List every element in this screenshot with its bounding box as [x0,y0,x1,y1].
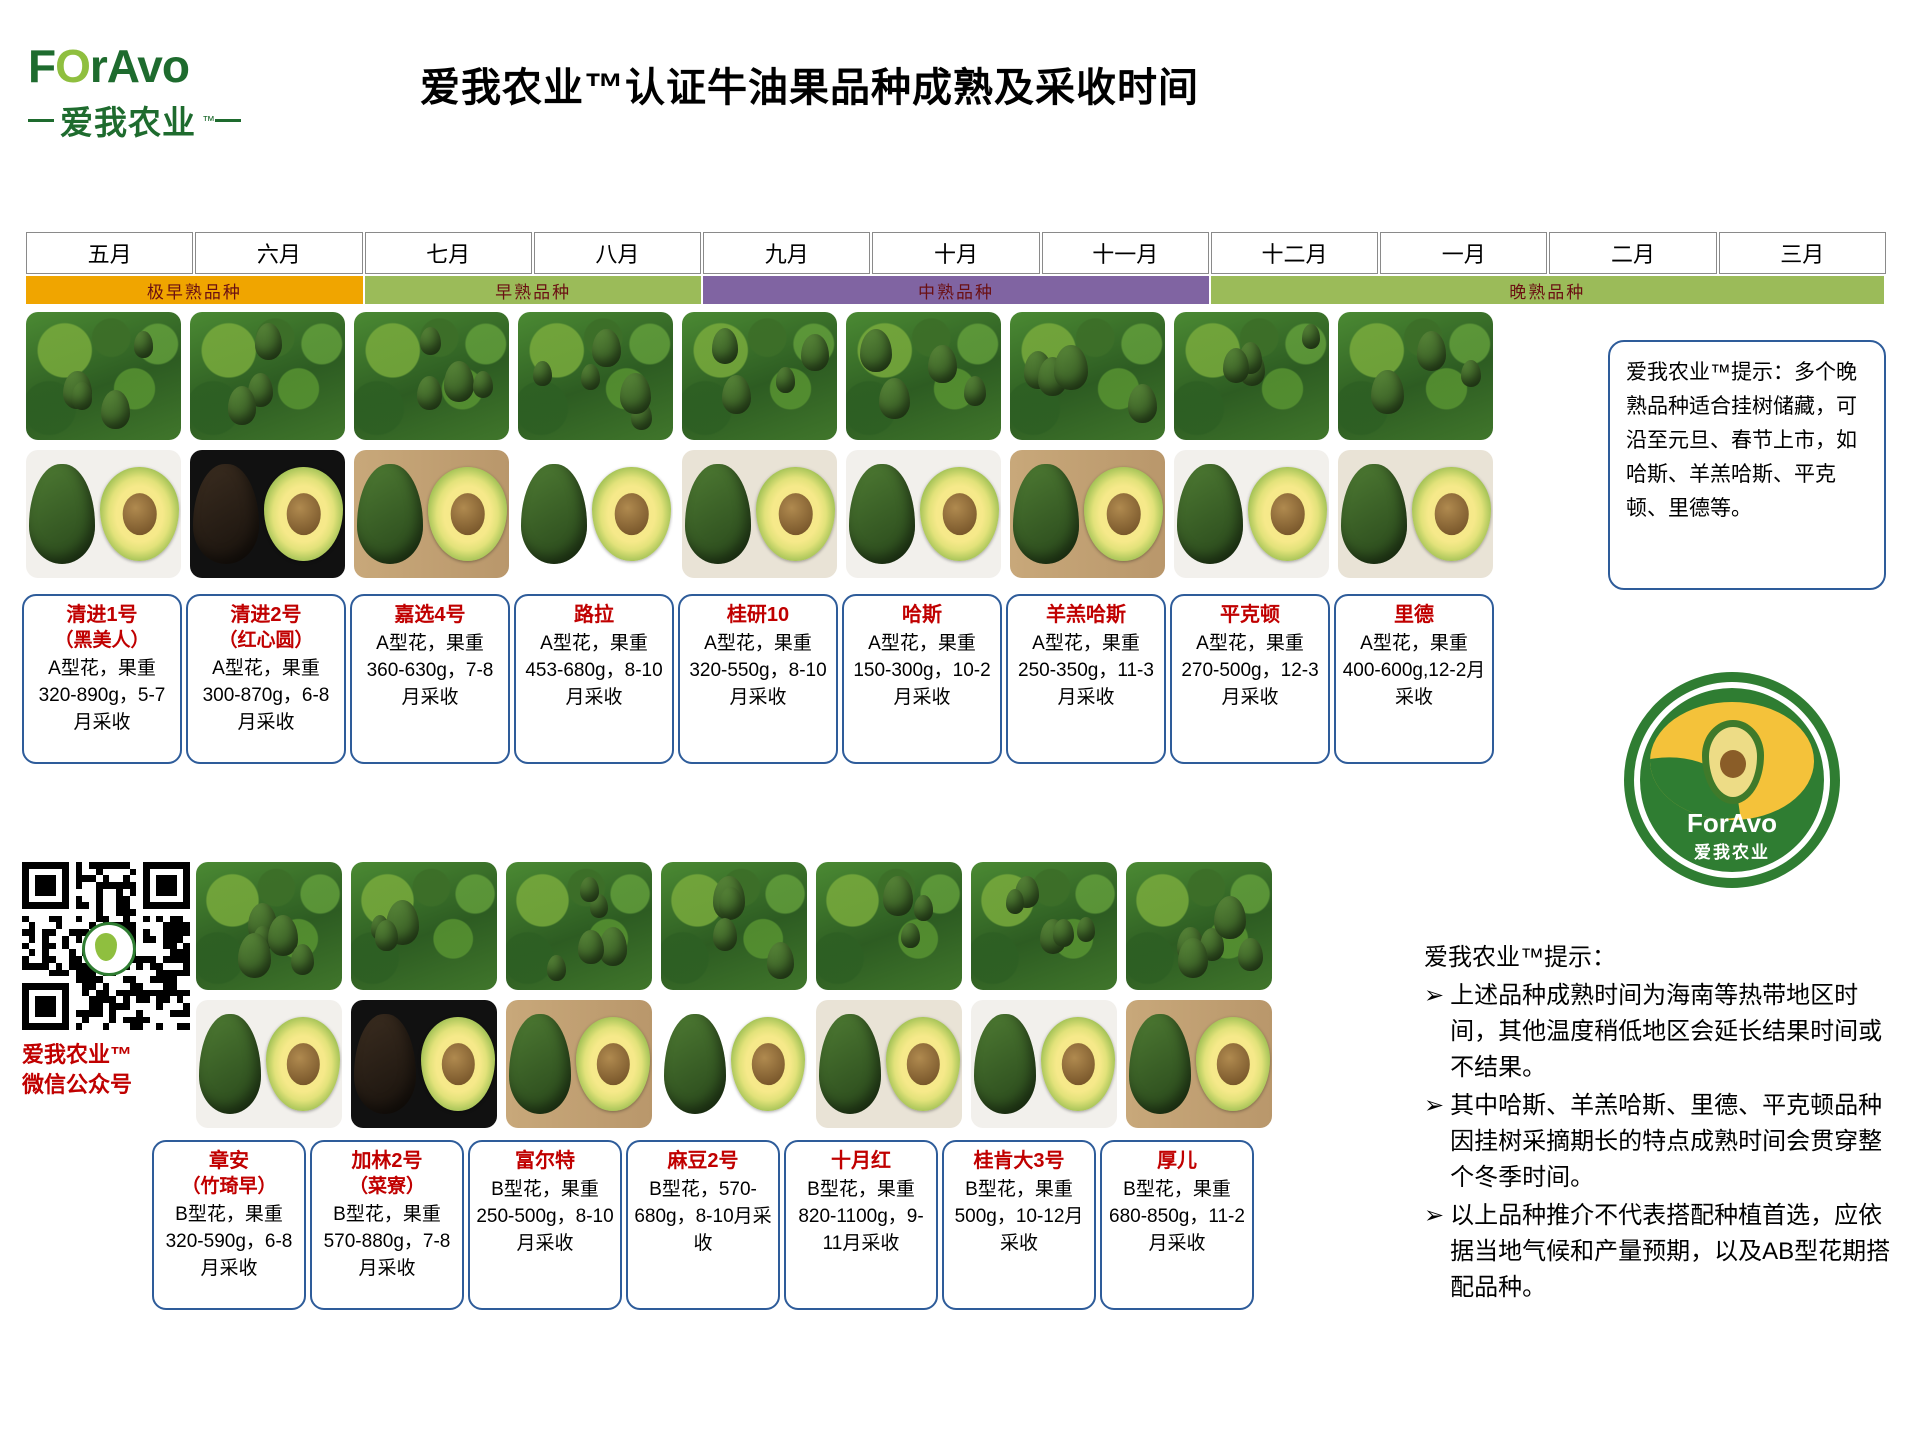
variety-description: B型花，果重820-1100g，9-11月采收 [792,1176,930,1257]
qr-module [109,1010,116,1017]
variety-alias: （竹琦早） [160,1174,298,1199]
qr-module [150,936,157,943]
qr-module [29,963,36,970]
qr-module [109,1017,116,1024]
qr-module [163,976,170,983]
variety-description: B型花，果重320-590g，6-8月采收 [160,1201,298,1282]
tree-photo [816,862,962,990]
avocado-fruit-icon [592,329,620,367]
tree-photo [518,312,673,440]
qr-module [35,996,55,1016]
logo-rule-right [215,119,241,122]
avocado-fruit-icon [291,944,314,975]
variety-card[interactable]: 麻豆2号B型花，570-680g，8-10月采收 [626,1140,780,1310]
tree-photo [190,312,345,440]
tree-photo [26,312,181,440]
avocado-fruit-icon [375,920,398,950]
cut-fruit-photo [846,450,1001,578]
qr-module [96,1010,103,1017]
month-cell: 三月 [1719,232,1886,274]
avocado-fruit-icon [101,390,130,429]
bullet-arrow-icon: ➢ [1424,1198,1444,1306]
qr-caption-line2: 微信公众号 [22,1070,190,1100]
qr-module [116,889,123,896]
qr-module [143,936,150,943]
qr-module [136,996,143,1003]
logo-chinese-line: 爱我农业 ™ [28,96,278,144]
month-cell: 二月 [1549,232,1716,274]
qr-module [130,869,137,876]
avocado-fruit-icon [72,382,92,409]
qr-module [62,936,69,943]
qr-module [49,943,56,950]
qr-module [76,936,83,943]
qr-module [150,956,157,963]
avocado-fruit-icon [444,361,474,402]
avocado-fruit-icon [620,373,651,415]
avocado-pit-icon [287,1043,319,1085]
avocado-pit-icon [752,1043,784,1085]
qr-module [123,996,130,1003]
variety-card[interactable]: 清进1号（黑美人）A型花，果重320-890g，5-7月采收 [22,594,182,764]
avocado-fruit-icon [713,918,737,950]
variety-description: B型花，果重500g，10-12月采收 [950,1176,1088,1257]
tip-list-item: ➢其中哈斯、羊羔哈斯、里德、平克顿品种因挂树采摘期长的特点成熟时间会贯穿整个冬季… [1424,1088,1894,1196]
avocado-pit-icon [597,1043,629,1085]
qr-module [163,956,170,963]
qr-module [49,929,56,936]
avocado-pit-icon [1217,1043,1249,1085]
qr-module [123,862,130,869]
variety-name: 路拉 [522,602,666,628]
qr-module [35,963,42,970]
qr-module [56,963,63,970]
tree-photo [506,862,652,990]
qr-module [69,956,76,963]
avocado-pit-icon [942,493,977,535]
qr-module [136,963,143,970]
cut-fruit-photo [1338,450,1493,578]
halved-avocado-icon [266,1017,340,1112]
qr-module [42,936,49,943]
qr-module [123,1003,130,1010]
qr-module [177,922,184,929]
cut-fruit-photo [506,1000,652,1128]
qr-module [183,922,190,929]
cut-fruit-photo [190,450,345,578]
qr-module [82,1017,89,1024]
qr-module [49,916,56,923]
avocado-fruit-icon [928,345,957,384]
qr-caption: 爱我农业™ 微信公众号 [22,1040,190,1100]
qr-module [156,970,163,977]
variety-description: A型花，果重300-870g，6-8月采收 [194,655,338,736]
qr-module [156,990,163,997]
avocado-fruit-icon [1053,919,1074,947]
qr-module [82,902,89,909]
tip-list-item: ➢上述品种成熟时间为海南等热带地区时间，其他温度稍低地区会延长结果时间或不结果。 [1424,978,1894,1086]
qr-module [170,956,177,963]
qr-module [82,970,89,977]
avocado-fruit-icon [712,328,738,364]
qr-module [143,990,150,997]
qr-module [136,990,143,997]
variety-description: A型花，果重453-680g，8-10月采收 [522,630,666,711]
qr-module [76,929,83,936]
tip-item-text: 其中哈斯、羊羔哈斯、里德、平克顿品种因挂树采摘期长的特点成熟时间会贯穿整个冬季时… [1450,1088,1894,1196]
cut-fruit-photo [354,450,509,578]
qr-module [89,976,96,983]
qr-module [130,976,137,983]
tree-photo-strip-a [26,312,1506,440]
avocado-fruit-icon [767,942,794,979]
month-cell: 六月 [195,232,362,274]
avocado-pit-icon [442,1043,474,1085]
logo-wordmark: FOrAvo [28,40,278,92]
variety-name: 桂肯大3号 [950,1148,1088,1174]
variety-name: 平克顿 [1178,602,1322,628]
qr-module [96,1003,103,1010]
qr-module [143,996,150,1003]
wechat-qr-block: 爱我农业™ 微信公众号 [22,862,190,1100]
season-bar: 早熟品种 [365,276,702,304]
cut-fruit-photo [1126,1000,1272,1128]
variety-card[interactable]: 里德A型花，果重400-600g,12-2月采收 [1334,594,1494,764]
avocado-fruit-icon [719,887,743,919]
qr-module [76,902,83,909]
qr-module [177,936,184,943]
cut-fruit-photo [351,1000,497,1128]
qr-module [116,862,123,869]
halved-avocado-icon [1248,467,1327,562]
month-cell: 八月 [534,232,701,274]
qr-module [89,996,96,1003]
avocado-fruit-icon [581,364,600,390]
avocado-fruit-icon [417,376,442,409]
avocado-fruit-icon [578,930,604,965]
logo-rule-left [28,119,54,122]
variety-name: 加林2号 [318,1148,456,1174]
qr-module [56,970,63,977]
qr-module [136,1023,143,1030]
qr-module [183,1003,190,1010]
tip-list-block: 爱我农业™提示： ➢上述品种成熟时间为海南等热带地区时间，其他温度稍低地区会延长… [1424,940,1894,1308]
badge-wordmark: ForAvo [1624,808,1840,839]
qr-module [143,956,150,963]
page-title: 爱我农业™认证牛油果品种成熟及采收时间 [420,55,1520,113]
qr-module [76,963,83,970]
avocado-pit-icon [778,493,813,535]
qr-module [103,1023,110,1030]
qr-module [109,862,116,869]
avocado-fruit-icon [801,334,829,371]
variety-card[interactable]: 桂肯大3号B型花，果重500g，10-12月采收 [942,1140,1096,1310]
qr-module [96,902,103,909]
avocado-fruit-icon [883,876,913,916]
halved-avocado-icon [756,467,835,562]
qr-module [170,949,177,956]
avocado-fruit-icon [580,877,598,902]
variety-name: 十月红 [792,1148,930,1174]
variety-card[interactable]: 平克顿A型花，果重270-500g，12-3月采收 [1170,594,1330,764]
qr-module [76,956,83,963]
avocado-pit-icon [1106,493,1141,535]
qr-module [96,976,103,983]
variety-alias: （黑美人） [30,628,174,653]
qr-module [163,936,170,943]
qr-module [96,909,103,916]
halved-avocado-icon [920,467,999,562]
variety-description: A型花，果重150-300g，10-2月采收 [850,630,994,711]
qr-module [136,1010,143,1017]
variety-description: B型花，果重250-500g，8-10月采收 [476,1176,614,1257]
qr-module [96,996,103,1003]
qr-code-icon[interactable] [22,862,190,1030]
variety-card[interactable]: 厚儿B型花，果重680-850g，11-2月采收 [1100,1140,1254,1310]
qr-module [123,1017,130,1024]
qr-module [96,896,103,903]
qr-module [177,949,184,956]
qr-module [123,875,130,882]
tree-photo [351,862,497,990]
qr-module [183,1023,190,1030]
variety-card[interactable]: 哈斯A型花，果重150-300g，10-2月采收 [842,594,1002,764]
qr-module [183,929,190,936]
variety-name: 嘉选4号 [358,602,502,628]
qr-module [123,916,130,923]
badge-chinese-name: 爱我农业 [1624,838,1840,863]
badge-avocado-scene [1650,702,1814,820]
tree-photo-strip-b [196,862,1302,990]
qr-module [183,943,190,950]
whole-avocado-icon [199,1014,261,1114]
qr-module [42,956,49,963]
whole-avocado-icon [819,1014,881,1114]
variety-alias: （菜寮） [318,1174,456,1199]
tree-photo [354,312,509,440]
qr-module [156,1023,163,1030]
variety-name: 清进2号 [194,602,338,628]
qr-module [69,929,76,936]
qr-module [96,869,103,876]
qr-caption-line1: 爱我农业™ [22,1040,190,1070]
qr-module [82,990,89,997]
variety-description: A型花，果重400-600g,12-2月采收 [1342,630,1486,711]
qr-module [22,963,29,970]
qr-module [76,875,83,882]
qr-module [123,896,130,903]
bullet-arrow-icon: ➢ [1424,1088,1444,1196]
cut-fruit-photo [682,450,837,578]
variety-card[interactable]: 桂研10A型花，果重320-550g，8-10月采收 [678,594,838,764]
month-cell: 五月 [26,232,193,274]
qr-module [22,929,29,936]
variety-description: A型花，果重320-890g，5-7月采收 [30,655,174,736]
qr-module [103,862,110,869]
variety-card[interactable]: 清进2号（红心圆）A型花，果重300-870g，6-8月采收 [186,594,346,764]
qr-module [29,949,36,956]
variety-card[interactable]: 十月红B型花，果重820-1100g，9-11月采收 [784,1140,938,1310]
qr-module [183,1010,190,1017]
qr-module [143,1017,150,1024]
qr-module [96,990,103,997]
variety-alias: （红心圆） [194,628,338,653]
qr-module [76,976,83,983]
qr-module [29,936,36,943]
avocado-fruit-icon [1128,384,1157,423]
qr-module [163,970,170,977]
qr-module [82,976,89,983]
qr-module [56,922,63,929]
variety-name: 清进1号 [30,602,174,628]
month-cell: 七月 [365,232,532,274]
qr-module [156,996,163,1003]
month-cell: 十月 [872,232,1039,274]
qr-module [163,922,170,929]
qr-module [183,970,190,977]
avocado-pit-icon [614,493,649,535]
avocado-pit-icon [286,493,321,535]
variety-card[interactable]: 羊羔哈斯A型花，果重250-350g，11-3月采收 [1006,594,1166,764]
variety-card[interactable]: 嘉选4号A型花，果重360-630g，7-8月采收 [350,594,510,764]
qr-module [96,889,103,896]
qr-module [143,916,150,923]
halved-avocado-icon [576,1017,650,1112]
tip-item-text: 上述品种成熟时间为海南等热带地区时间，其他温度稍低地区会延长结果时间或不结果。 [1450,978,1894,1086]
qr-module [89,983,96,990]
variety-description: A型花，果重360-630g，7-8月采收 [358,630,502,711]
variety-card[interactable]: 富尔特B型花，果重250-500g，8-10月采收 [468,1140,622,1310]
qr-module [76,869,83,876]
cut-fruit-photo [816,1000,962,1128]
qr-module [123,902,130,909]
tip-list-heading: 爱我农业™提示： [1424,940,1894,976]
qr-module [130,1023,137,1030]
qr-module [116,896,123,903]
qr-module [76,970,83,977]
avocado-fruit-icon [1371,370,1403,414]
qr-module [170,929,177,936]
avocado-fruit-icon [901,923,920,949]
variety-description: A型花，果重270-500g，12-3月采收 [1178,630,1322,711]
qr-module [150,990,157,997]
qr-center-logo-icon [82,922,136,976]
tip-callout-box: 爱我农业™提示：多个晚熟品种适合挂树储藏，可沿至元旦、春节上市，如哈斯、羊羔哈斯… [1608,340,1886,590]
tip-list-item: ➢以上品种推介不代表搭配种植首选，应依据当地气候和产量预期，以及AB型花期搭配品… [1424,1198,1894,1306]
avocado-fruit-icon [1077,917,1096,942]
qr-module [42,949,49,956]
qr-module [170,976,177,983]
avocado-fruit-icon [1302,324,1321,349]
avocado-pit-icon [450,493,485,535]
qr-module [109,1003,116,1010]
qr-module [76,916,83,923]
cut-fruit-photo [661,1000,807,1128]
whole-avocado-icon [1341,464,1407,564]
fruit-photo-strip-a [26,450,1506,578]
avocado-fruit-icon [1214,896,1246,939]
avocado-fruit-icon [722,375,751,414]
qr-module [183,963,190,970]
qr-module [22,943,29,950]
qr-module [177,970,184,977]
qr-module [136,983,143,990]
whole-avocado-icon [849,464,915,564]
avocado-fruit-icon [879,378,910,420]
avocado-fruit-icon [1054,345,1088,390]
qr-module [170,983,177,990]
qr-module [177,956,184,963]
avocado-fruit-icon [964,376,986,406]
avocado-fruit-icon [420,327,441,355]
qr-module [177,929,184,936]
qr-module [29,929,36,936]
variety-name: 里德 [1342,602,1486,628]
variety-name: 羊羔哈斯 [1014,602,1158,628]
qr-module [183,949,190,956]
tree-photo [971,862,1117,990]
qr-module [22,956,29,963]
qr-module [62,970,69,977]
qr-module [89,862,96,869]
month-cell: 十一月 [1042,232,1209,274]
halved-avocado-icon [100,467,179,562]
qr-module [123,990,130,997]
qr-module [103,983,110,990]
cut-fruit-photo [26,450,181,578]
qr-module [49,956,56,963]
variety-card[interactable]: 章安（竹琦早）B型花，果重320-590g，6-8月采收 [152,1140,306,1310]
qr-module [116,990,123,997]
qr-module [156,1003,163,1010]
qr-module [136,956,143,963]
qr-module [82,1010,89,1017]
tree-photo [1126,862,1272,990]
tree-photo [1338,312,1493,440]
qr-module [170,970,177,977]
qr-module [177,1023,184,1030]
qr-module [163,983,170,990]
qr-module [156,875,176,895]
qr-module [177,990,184,997]
variety-description: A型花，果重250-350g，11-3月采收 [1014,630,1158,711]
avocado-fruit-icon [547,955,566,981]
avocado-pit-icon [1270,493,1305,535]
variety-card[interactable]: 加林2号（菜寮）B型花，果重570-880g，7-8月采收 [310,1140,464,1310]
qr-module [89,1010,96,1017]
tree-photo [846,312,1001,440]
qr-module [42,963,49,970]
whole-avocado-icon [1177,464,1243,564]
qr-module [69,949,76,956]
qr-module [62,943,69,950]
qr-module [177,916,184,923]
variety-card[interactable]: 路拉A型花，果重453-680g，8-10月采收 [514,594,674,764]
avocado-fruit-icon [533,361,552,386]
qr-module [76,882,83,889]
avocado-pit-icon [1062,1043,1094,1085]
qr-module [103,882,110,889]
avocado-fruit-icon [1178,938,1208,978]
qr-module [170,916,177,923]
variety-description: B型花，果重570-880g，7-8月采收 [318,1201,456,1282]
whole-avocado-icon [509,1014,571,1114]
avocado-pit-icon [907,1043,939,1085]
cut-fruit-photo [971,1000,1117,1128]
avocado-fruit-icon [776,367,795,392]
avocado-fruit-icon [255,323,283,360]
avocado-fruit-icon [914,895,934,921]
